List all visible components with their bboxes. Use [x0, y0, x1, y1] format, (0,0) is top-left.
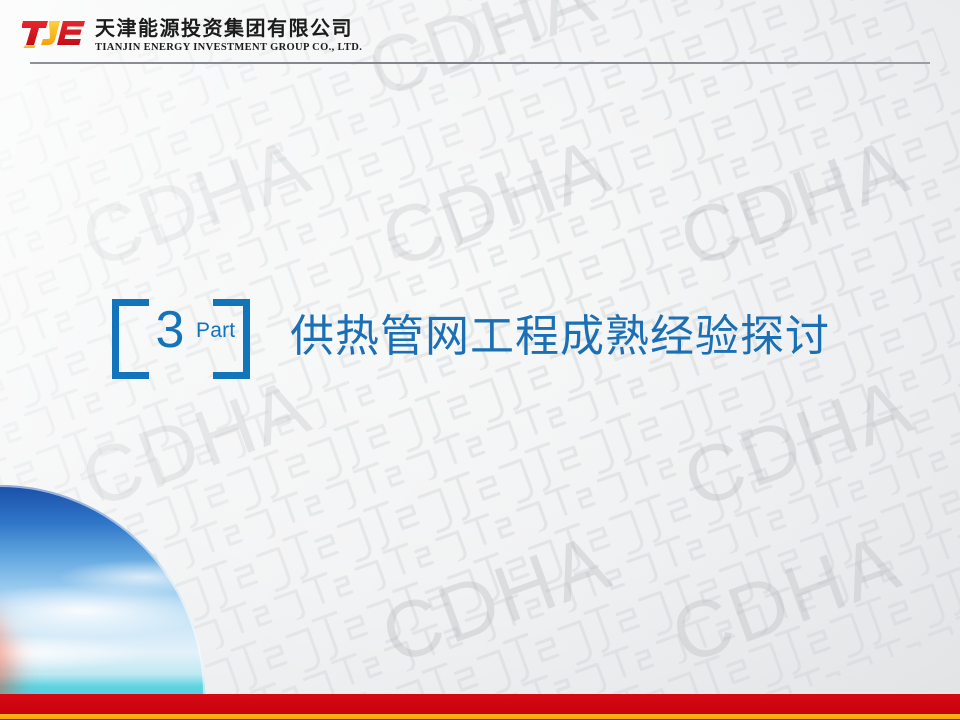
slide-header: 天津能源投资集团有限公司 TIANJIN ENERGY INVESTMENT G… [0, 0, 960, 64]
slide-canvas: CDHA CDHA CDHA CDHA CDHA CDHA CDHA CDHA [0, 0, 960, 720]
footer-red-bar [0, 694, 960, 714]
section-number-bracket: 3 Part [112, 299, 250, 365]
section-part-label: Part [196, 319, 235, 343]
decorative-fan-image: 聚能之道 天津能源企业文化手册 TIANJIN ENERGY Corporate… [0, 485, 205, 695]
section-number: 3 [142, 297, 198, 363]
company-name-en: TIANJIN ENERGY INVESTMENT GROUP CO., LTD… [95, 41, 362, 54]
section-title-block: 3 Part 供热管网工程成熟经验探讨 [112, 296, 830, 368]
company-name: 天津能源投资集团有限公司 TIANJIN ENERGY INVESTMENT G… [95, 18, 362, 54]
section-title-text: 供热管网工程成熟经验探讨 [290, 300, 830, 364]
company-logo: 天津能源投资集团有限公司 TIANJIN ENERGY INVESTMENT G… [22, 18, 362, 54]
company-name-cn: 天津能源投资集团有限公司 [95, 18, 362, 39]
header-divider [30, 62, 930, 64]
tje-logo-icon [22, 18, 86, 48]
fan-mask: 聚能之道 天津能源企业文化手册 TIANJIN ENERGY Corporate… [0, 485, 205, 695]
water-reflection-overlay [0, 485, 205, 695]
